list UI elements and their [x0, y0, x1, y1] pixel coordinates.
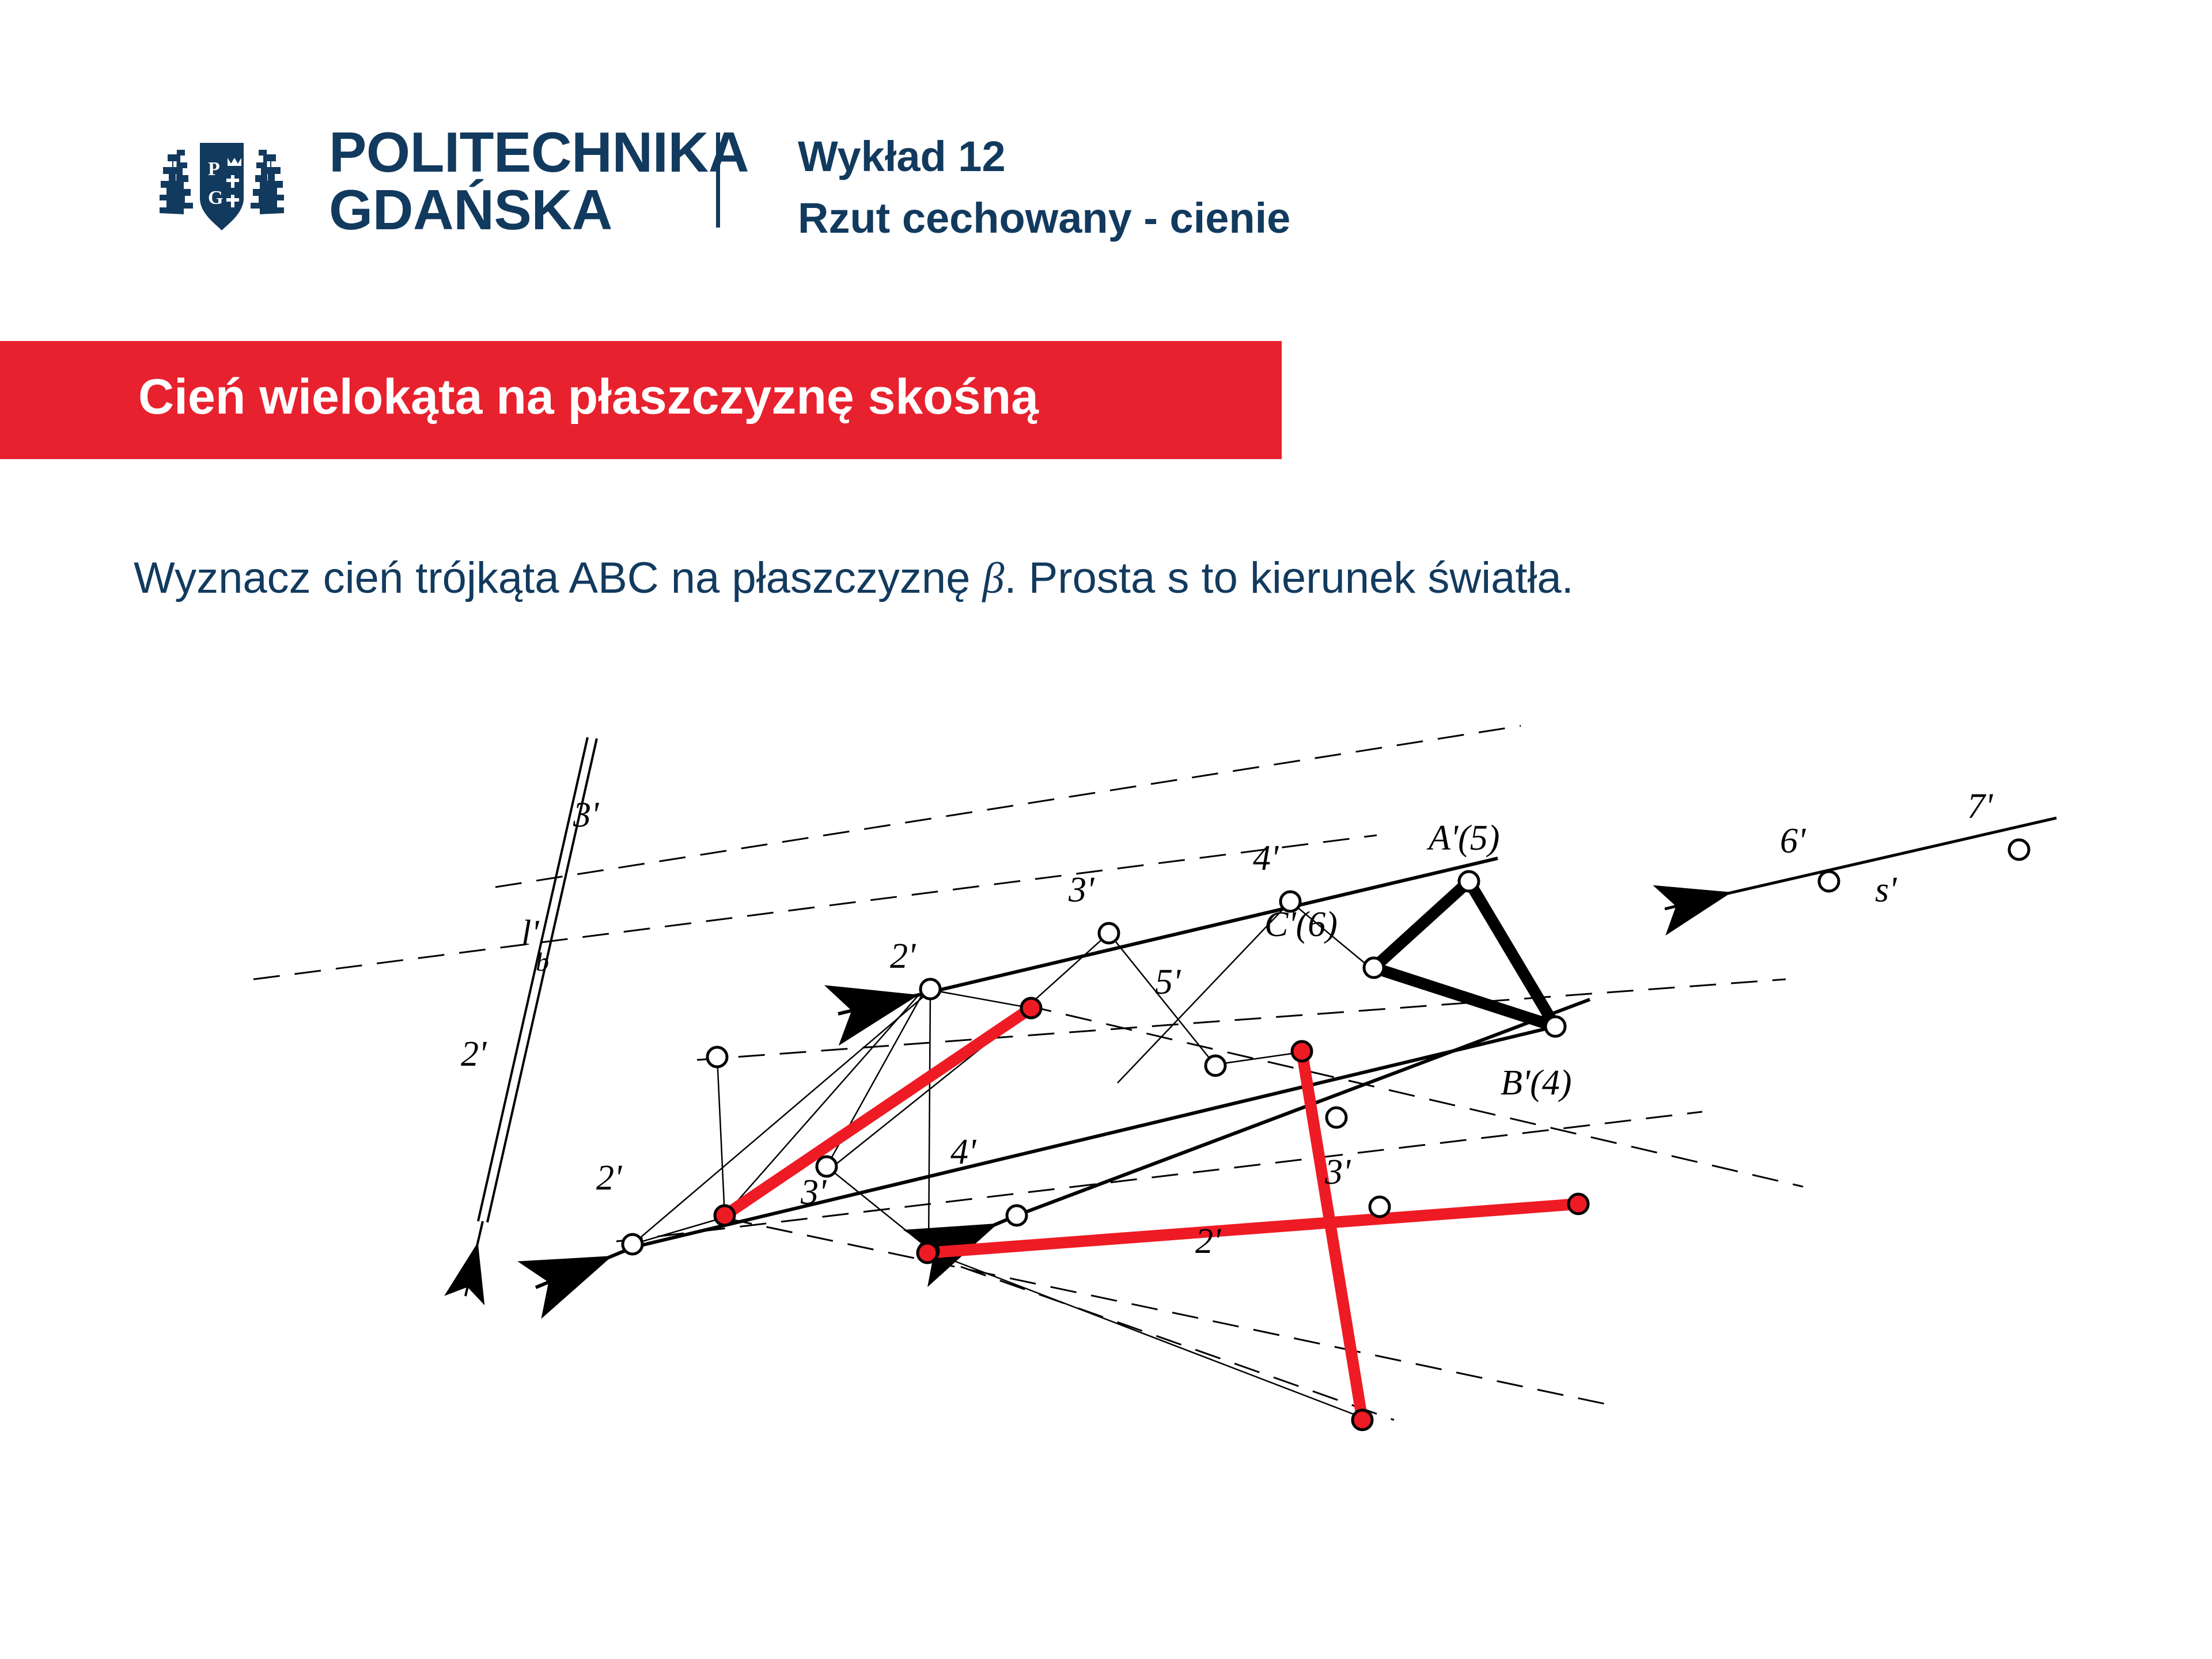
label-2prime-bottomleft: 2' [596, 1158, 623, 1198]
university-logo-block: P G POLITECHNIKA GDAŃSKA [135, 124, 749, 239]
point-C [1364, 958, 1384, 978]
university-name-line1: POLITECHNIKA [329, 124, 749, 181]
technical-drawing: 3' 2' 2' 3' 2' 4' 3' 5' 4' 3' 2' A'(5) C… [0, 588, 2212, 1659]
label-6prime: 6' [1780, 821, 1806, 861]
label-4prime-graded: 4' [1253, 839, 1279, 878]
contour-line-3 [495, 726, 1521, 887]
drawing-labels: 3' 2' 2' 3' 2' 4' 3' 5' 4' 3' 2' A'(5) C… [461, 787, 1994, 1261]
point-7prime [2009, 840, 2029, 859]
contour-line-bottom-b [697, 979, 1786, 1060]
label-s-line: s' [1875, 870, 1897, 910]
label-2prime-graded: 2' [890, 937, 916, 976]
shadow-point-2 [1021, 998, 1041, 1018]
contour-line-diag-c [922, 1253, 1394, 1420]
ray-3 [717, 1057, 725, 1215]
section-title: Cień wielokąta na płaszczyznę skośną [138, 369, 1039, 426]
shadow-point-4 [1569, 1194, 1588, 1214]
ray-19 [929, 991, 930, 1250]
ray-17 [929, 1251, 1364, 1418]
ray-2 [632, 991, 930, 1244]
point-3prime-graded [1099, 923, 1119, 943]
s-line-arrow [1665, 895, 1722, 909]
label-3prime-right: 3' [1324, 1153, 1351, 1192]
shadow-segment-3 [1302, 1051, 1362, 1420]
slide-header: P G POLITECHNIKA GDAŃSKA Wykład 12 Rzut … [0, 0, 2212, 323]
contour-line-2b [253, 835, 1377, 979]
point-2prime-left [707, 1047, 727, 1067]
label-A: A'(5) [1426, 819, 1499, 858]
lecture-number: Wykład 12 [798, 126, 1290, 187]
point-3prime-right [1370, 1197, 1389, 1217]
lecture-topic: Rzut cechowany - cienie [798, 187, 1290, 249]
point-5prime [1327, 1108, 1346, 1127]
lecture-info: Wykład 12 Rzut cechowany - cienie [798, 126, 1290, 249]
label-2prime-trace: 2' [461, 1035, 487, 1074]
label-4prime-low: 4' [950, 1132, 977, 1172]
crest-letter-g: G [208, 187, 223, 209]
shadow-point-3 [918, 1243, 937, 1263]
ray-6 [929, 990, 1031, 1008]
crest-letter-p: P [208, 158, 220, 180]
point-2prime-graded [921, 979, 940, 999]
point-2prime-bottom-left [623, 1234, 642, 1254]
point-4prime-mid [1206, 1056, 1225, 1075]
university-name-line2: GDAŃSKA [329, 181, 749, 239]
label-5prime: 5' [1155, 963, 1181, 1002]
graded-line-lower-arrow [536, 1247, 634, 1287]
triangle-outline [1374, 881, 1555, 1027]
label-C: C'(6) [1264, 905, 1338, 944]
point-B [1546, 1017, 1565, 1036]
label-2prime-bottom: 2' [1195, 1222, 1222, 1261]
point-4prime-low [1007, 1206, 1027, 1225]
shadow-segment-1 [725, 1008, 1031, 1215]
label-3prime-graded: 3' [1068, 870, 1095, 910]
header-divider [716, 132, 720, 228]
shadow-point-6 [1353, 1410, 1372, 1430]
drawing-canvas: 3' 2' 2' 3' 2' 4' 3' 5' 4' 3' 2' A'(5) C… [0, 588, 2212, 1659]
label-7prime: 7' [1967, 787, 1994, 826]
pg-crest-icon: P G [135, 127, 308, 236]
trace-line-a [478, 737, 588, 1221]
label-B: B'(4) [1501, 1063, 1571, 1103]
label-lb-sub: b [536, 947, 549, 976]
trace-arrow [465, 1221, 483, 1296]
point-A [1459, 872, 1479, 891]
triangle-abc [1374, 881, 1555, 1027]
shadow-point-5 [1292, 1041, 1312, 1061]
label-3prime-low: 3' [800, 1173, 827, 1212]
construction-rays [632, 881, 1555, 1418]
university-name: POLITECHNIKA GDAŃSKA [329, 124, 749, 239]
contour-line-diag-b [1025, 1005, 1803, 1187]
graded-line-middle-right [1017, 999, 1590, 1215]
label-3prime-trace: 3' [573, 796, 600, 835]
shadow-point-1 [715, 1206, 734, 1225]
point-6prime [1819, 872, 1839, 891]
light-direction-line [1665, 818, 2056, 909]
contour-line-diag-a [726, 1218, 1613, 1406]
